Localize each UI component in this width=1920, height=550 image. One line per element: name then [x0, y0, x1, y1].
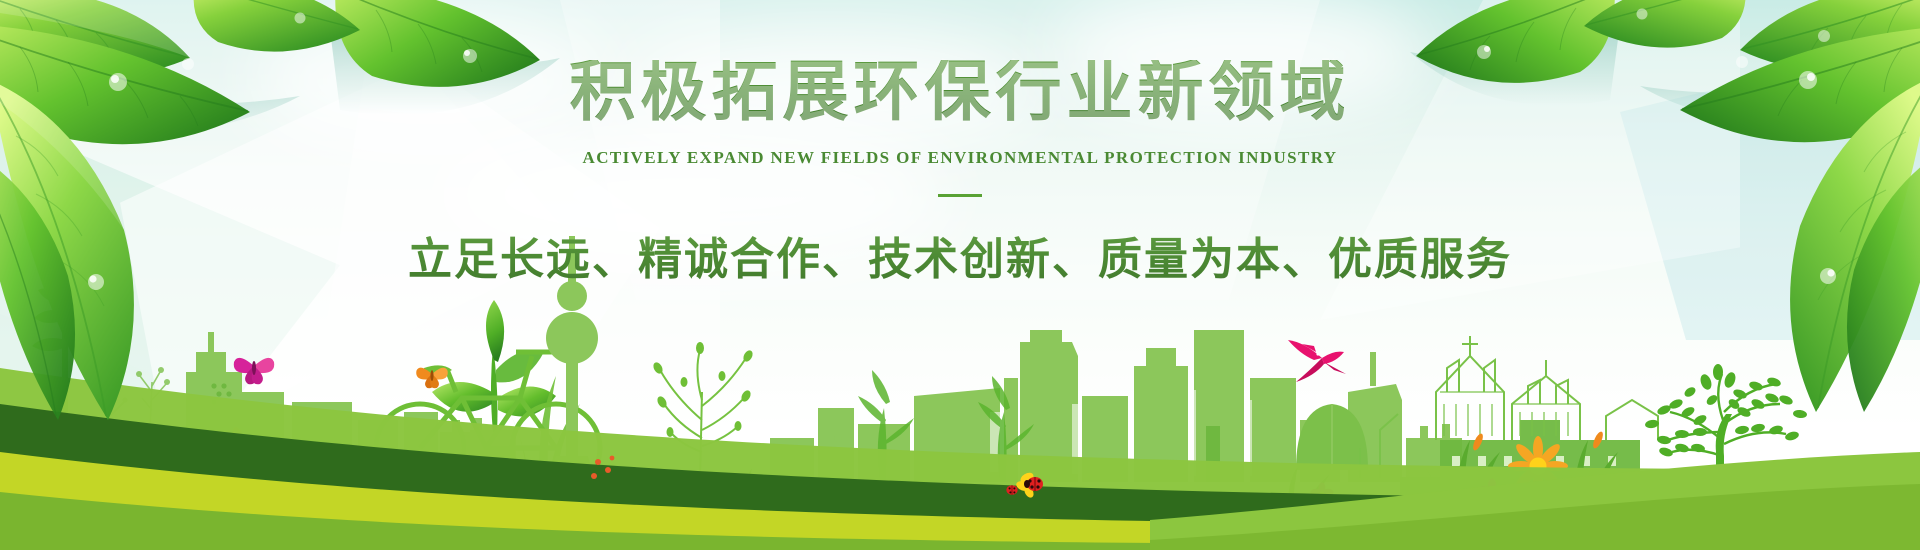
- banner-text-block: 积极拓展环保行业新领域 ACTIVELY EXPAND NEW FIELDS O…: [0, 60, 1920, 287]
- eco-banner: 积极拓展环保行业新领域 ACTIVELY EXPAND NEW FIELDS O…: [0, 0, 1920, 550]
- page-title: 积极拓展环保行业新领域: [0, 60, 1920, 126]
- page-subtitle: ACTIVELY EXPAND NEW FIELDS OF ENVIRONMEN…: [0, 148, 1920, 168]
- title-divider: [938, 194, 982, 197]
- company-tagline: 立足长远、精诚合作、技术创新、质量为本、优质服务: [0, 223, 1920, 287]
